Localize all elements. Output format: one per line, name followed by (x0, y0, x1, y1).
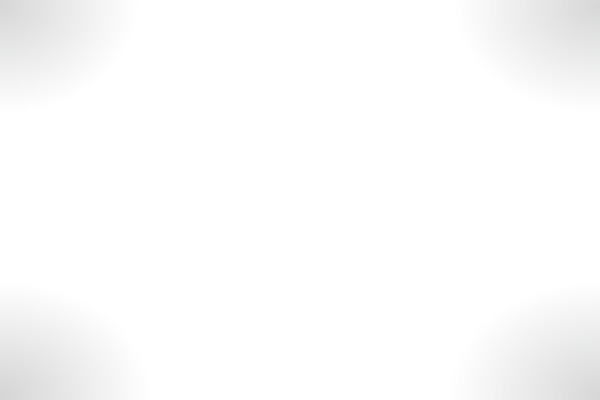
aa-battery (351, 177, 385, 186)
movement-slot (370, 160, 381, 166)
picture-frame-icon (560, 53, 586, 77)
foam-spacer (361, 235, 377, 251)
callout-subtitle: Geruisloze wijzers van de klok (396, 208, 586, 220)
callout-subtitle: Maakt het behouden van een gelijke afsta… (396, 318, 586, 341)
spacer-arrow-icon (560, 281, 586, 305)
callout-rule (396, 202, 586, 204)
callout-header: STILLEMECHANISME (396, 168, 586, 197)
callout-header: GESLEPENRANDEN (14, 280, 204, 309)
callout-gehard-glas[interactable]: GEHARDGLAS Bestand tegen breuk en krasse… (14, 50, 204, 101)
infographic-canvas: GEHARDGLAS Bestand tegen breuk en krasse… (0, 0, 600, 400)
callout-stille-mechanisme[interactable]: STILLEMECHANISME Geruisloze wijzers van … (396, 168, 586, 219)
callout-title: DUURZAMEHANDGREEP (466, 50, 551, 79)
callout-header: SCHUIMAF-STANDHOUDER (396, 278, 586, 307)
hands-center-cap (228, 190, 233, 195)
callout-title: GESLEPENRANDEN (49, 280, 121, 309)
callout-hoogwaardige-print[interactable]: ultra HD HOOGWAARDIGEPRINT Intense kleur… (14, 160, 204, 211)
callout-schuimaf-standhouder[interactable]: SCHUIMAF-STANDHOUDER Maakt het behouden … (396, 278, 586, 341)
callout-subtitle: Bestand tegen breuk en krassen (14, 90, 204, 102)
beveled-edges-icon (14, 283, 40, 307)
callout-geslepen-randen[interactable]: GESLEPENRANDEN Gladde en veilige afwerki… (14, 280, 204, 331)
callout-rule (396, 84, 586, 86)
callout-header: GEHARDGLAS (14, 50, 204, 79)
callout-title: GEHARDGLAS (49, 50, 107, 79)
ultra-hd-icon: ultra HD (14, 162, 41, 187)
callout-header: ultra HD HOOGWAARDIGEPRINT (14, 160, 204, 189)
callout-duurzame-handgreep[interactable]: DUURZAMEHANDGREEP Eenvoudige installatie… (396, 50, 586, 101)
diamond-icon (14, 53, 40, 77)
callout-rule (396, 312, 586, 314)
second-hand (230, 192, 232, 254)
callout-title: STILLEMECHANISME (456, 168, 551, 197)
gear-icon (560, 171, 586, 195)
callout-title: SCHUIMAF-STANDHOUDER (448, 278, 551, 307)
movement-slot (353, 160, 366, 166)
movement-slot (365, 169, 381, 174)
callout-rule (14, 314, 204, 316)
callout-subtitle: Intense kleuren en een duidelijk beeld (14, 200, 204, 212)
callout-rule (14, 194, 204, 196)
callout-rule (14, 84, 204, 86)
callout-header: DUURZAMEHANDGREEP (396, 50, 586, 79)
ultra-hd-icon-main-label: HD (21, 172, 35, 182)
callout-title: HOOGWAARDIGEPRINT (50, 160, 166, 189)
hanger-loop-icon (360, 147, 380, 157)
movement-slot (353, 169, 362, 176)
callout-subtitle: Eenvoudige installatie van de klok aan d… (396, 90, 586, 102)
clock-movement (348, 153, 388, 189)
callout-subtitle: Gladde en veilige afwerking (14, 320, 204, 332)
